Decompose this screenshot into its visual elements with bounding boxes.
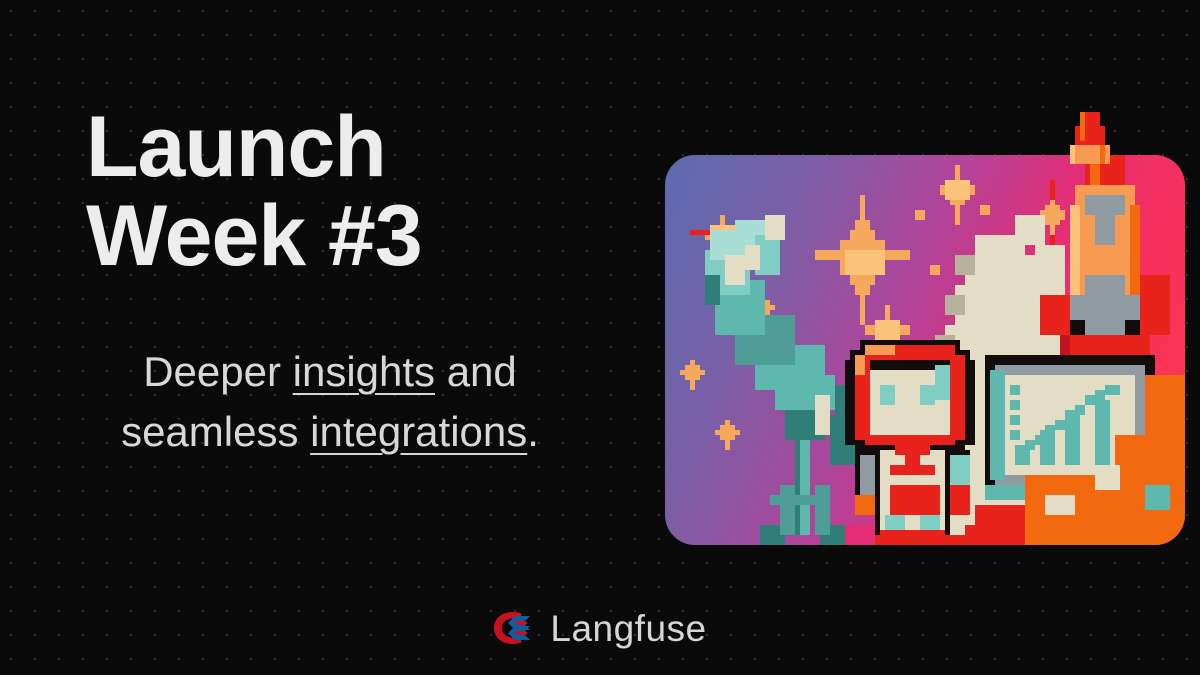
rocket-nose-icon bbox=[1055, 112, 1125, 164]
brand-lockup: Langfuse bbox=[0, 600, 1200, 656]
pixel-art-card bbox=[665, 155, 1185, 545]
star-small-2 bbox=[680, 360, 705, 390]
star-small-3 bbox=[715, 420, 740, 450]
subtitle: Deeper insights and seamless integration… bbox=[65, 342, 595, 464]
text-column: Launch Week #3 Deeper insights and seaml… bbox=[0, 0, 660, 560]
subtitle-emphasis-insights: insights bbox=[293, 348, 435, 395]
subtitle-part-1: Deeper bbox=[143, 348, 292, 395]
brand-name: Langfuse bbox=[550, 610, 706, 647]
star-large bbox=[815, 195, 910, 325]
star-top-right bbox=[940, 165, 975, 225]
subtitle-part-3: . bbox=[527, 408, 539, 455]
launch-week-banner: Launch Week #3 Deeper insights and seaml… bbox=[0, 0, 1200, 675]
subtitle-emphasis-integrations: integrations bbox=[310, 408, 527, 455]
astronaut bbox=[845, 340, 975, 545]
pixel-art-scene bbox=[665, 155, 1185, 545]
page-title: Launch Week #3 bbox=[80, 103, 580, 282]
rocket-nose-overflow bbox=[1055, 112, 1125, 164]
langfuse-logo-icon bbox=[493, 611, 533, 645]
